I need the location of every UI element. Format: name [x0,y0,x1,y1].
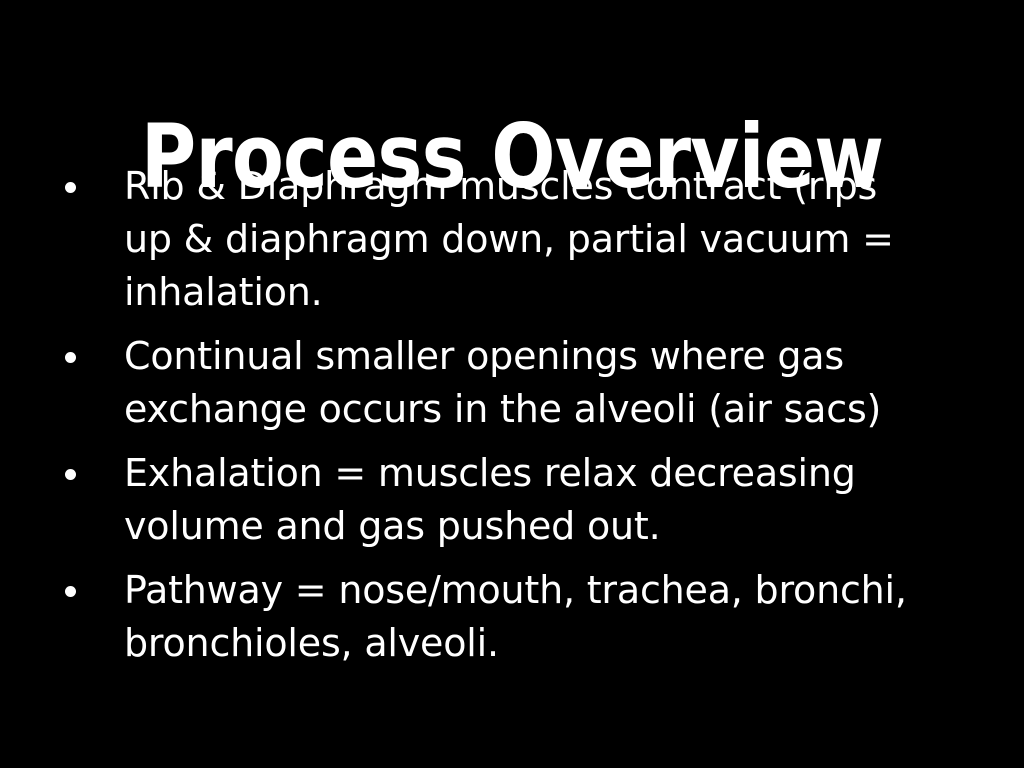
bullet-dot-icon [65,352,76,363]
bullet-dot-icon [65,182,76,193]
list-item: Exhalation = muscles relax decreasing vo… [56,447,908,553]
bullet-list: Rib & Diaphragm muscles contract (rips u… [56,160,908,670]
list-item: Pathway = nose/mouth, trachea, bronchi, … [56,564,908,670]
bullet-dot-icon [65,586,76,597]
list-item-text: Continual smaller openings where gas exc… [124,330,908,436]
list-item-text: Pathway = nose/mouth, trachea, bronchi, … [124,564,908,670]
list-item-text: Exhalation = muscles relax decreasing vo… [124,447,908,553]
bullet-dot-icon [65,469,76,480]
presentation-slide: Process Overview Rib & Diaphragm muscles… [0,0,1024,768]
list-item: Continual smaller openings where gas exc… [56,330,908,436]
list-item: Rib & Diaphragm muscles contract (rips u… [56,160,908,319]
list-item-text: Rib & Diaphragm muscles contract (rips u… [124,160,908,319]
